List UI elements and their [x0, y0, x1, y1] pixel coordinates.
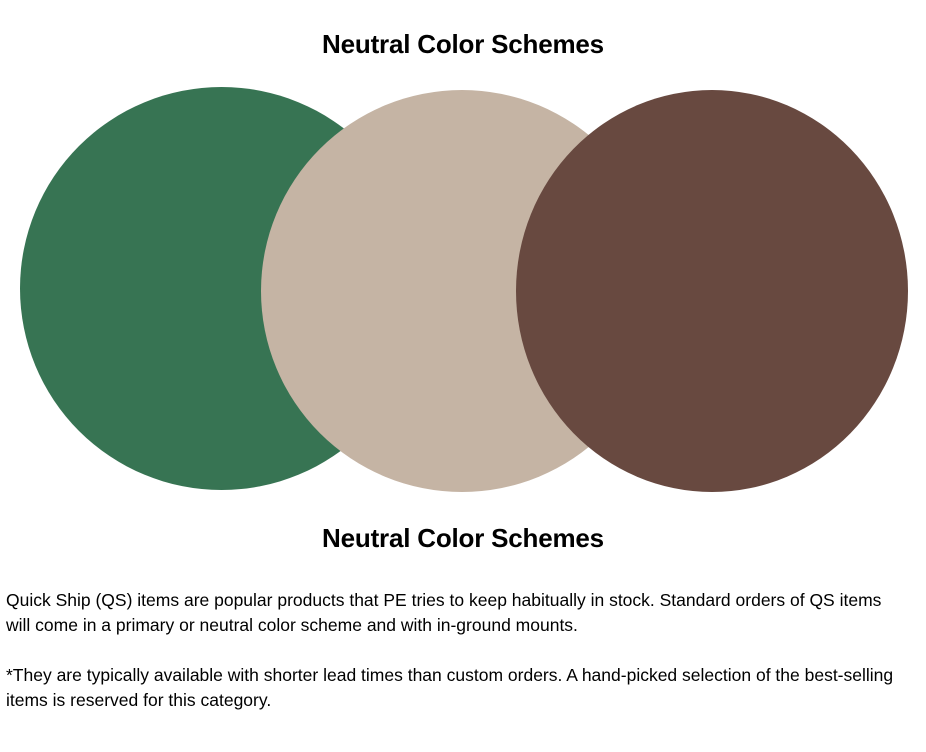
color-swatch-group: [0, 0, 926, 510]
paragraph-quick-ship: Quick Ship (QS) items are popular produc…: [6, 588, 902, 638]
body-copy: Quick Ship (QS) items are popular produc…: [6, 588, 902, 713]
paragraph-lead-times: *They are typically available with short…: [6, 663, 902, 713]
color-swatch-brown: [516, 90, 908, 492]
page-title-bottom: Neutral Color Schemes: [0, 523, 926, 553]
page-root: Neutral Color Schemes Neutral Color Sche…: [0, 0, 926, 752]
